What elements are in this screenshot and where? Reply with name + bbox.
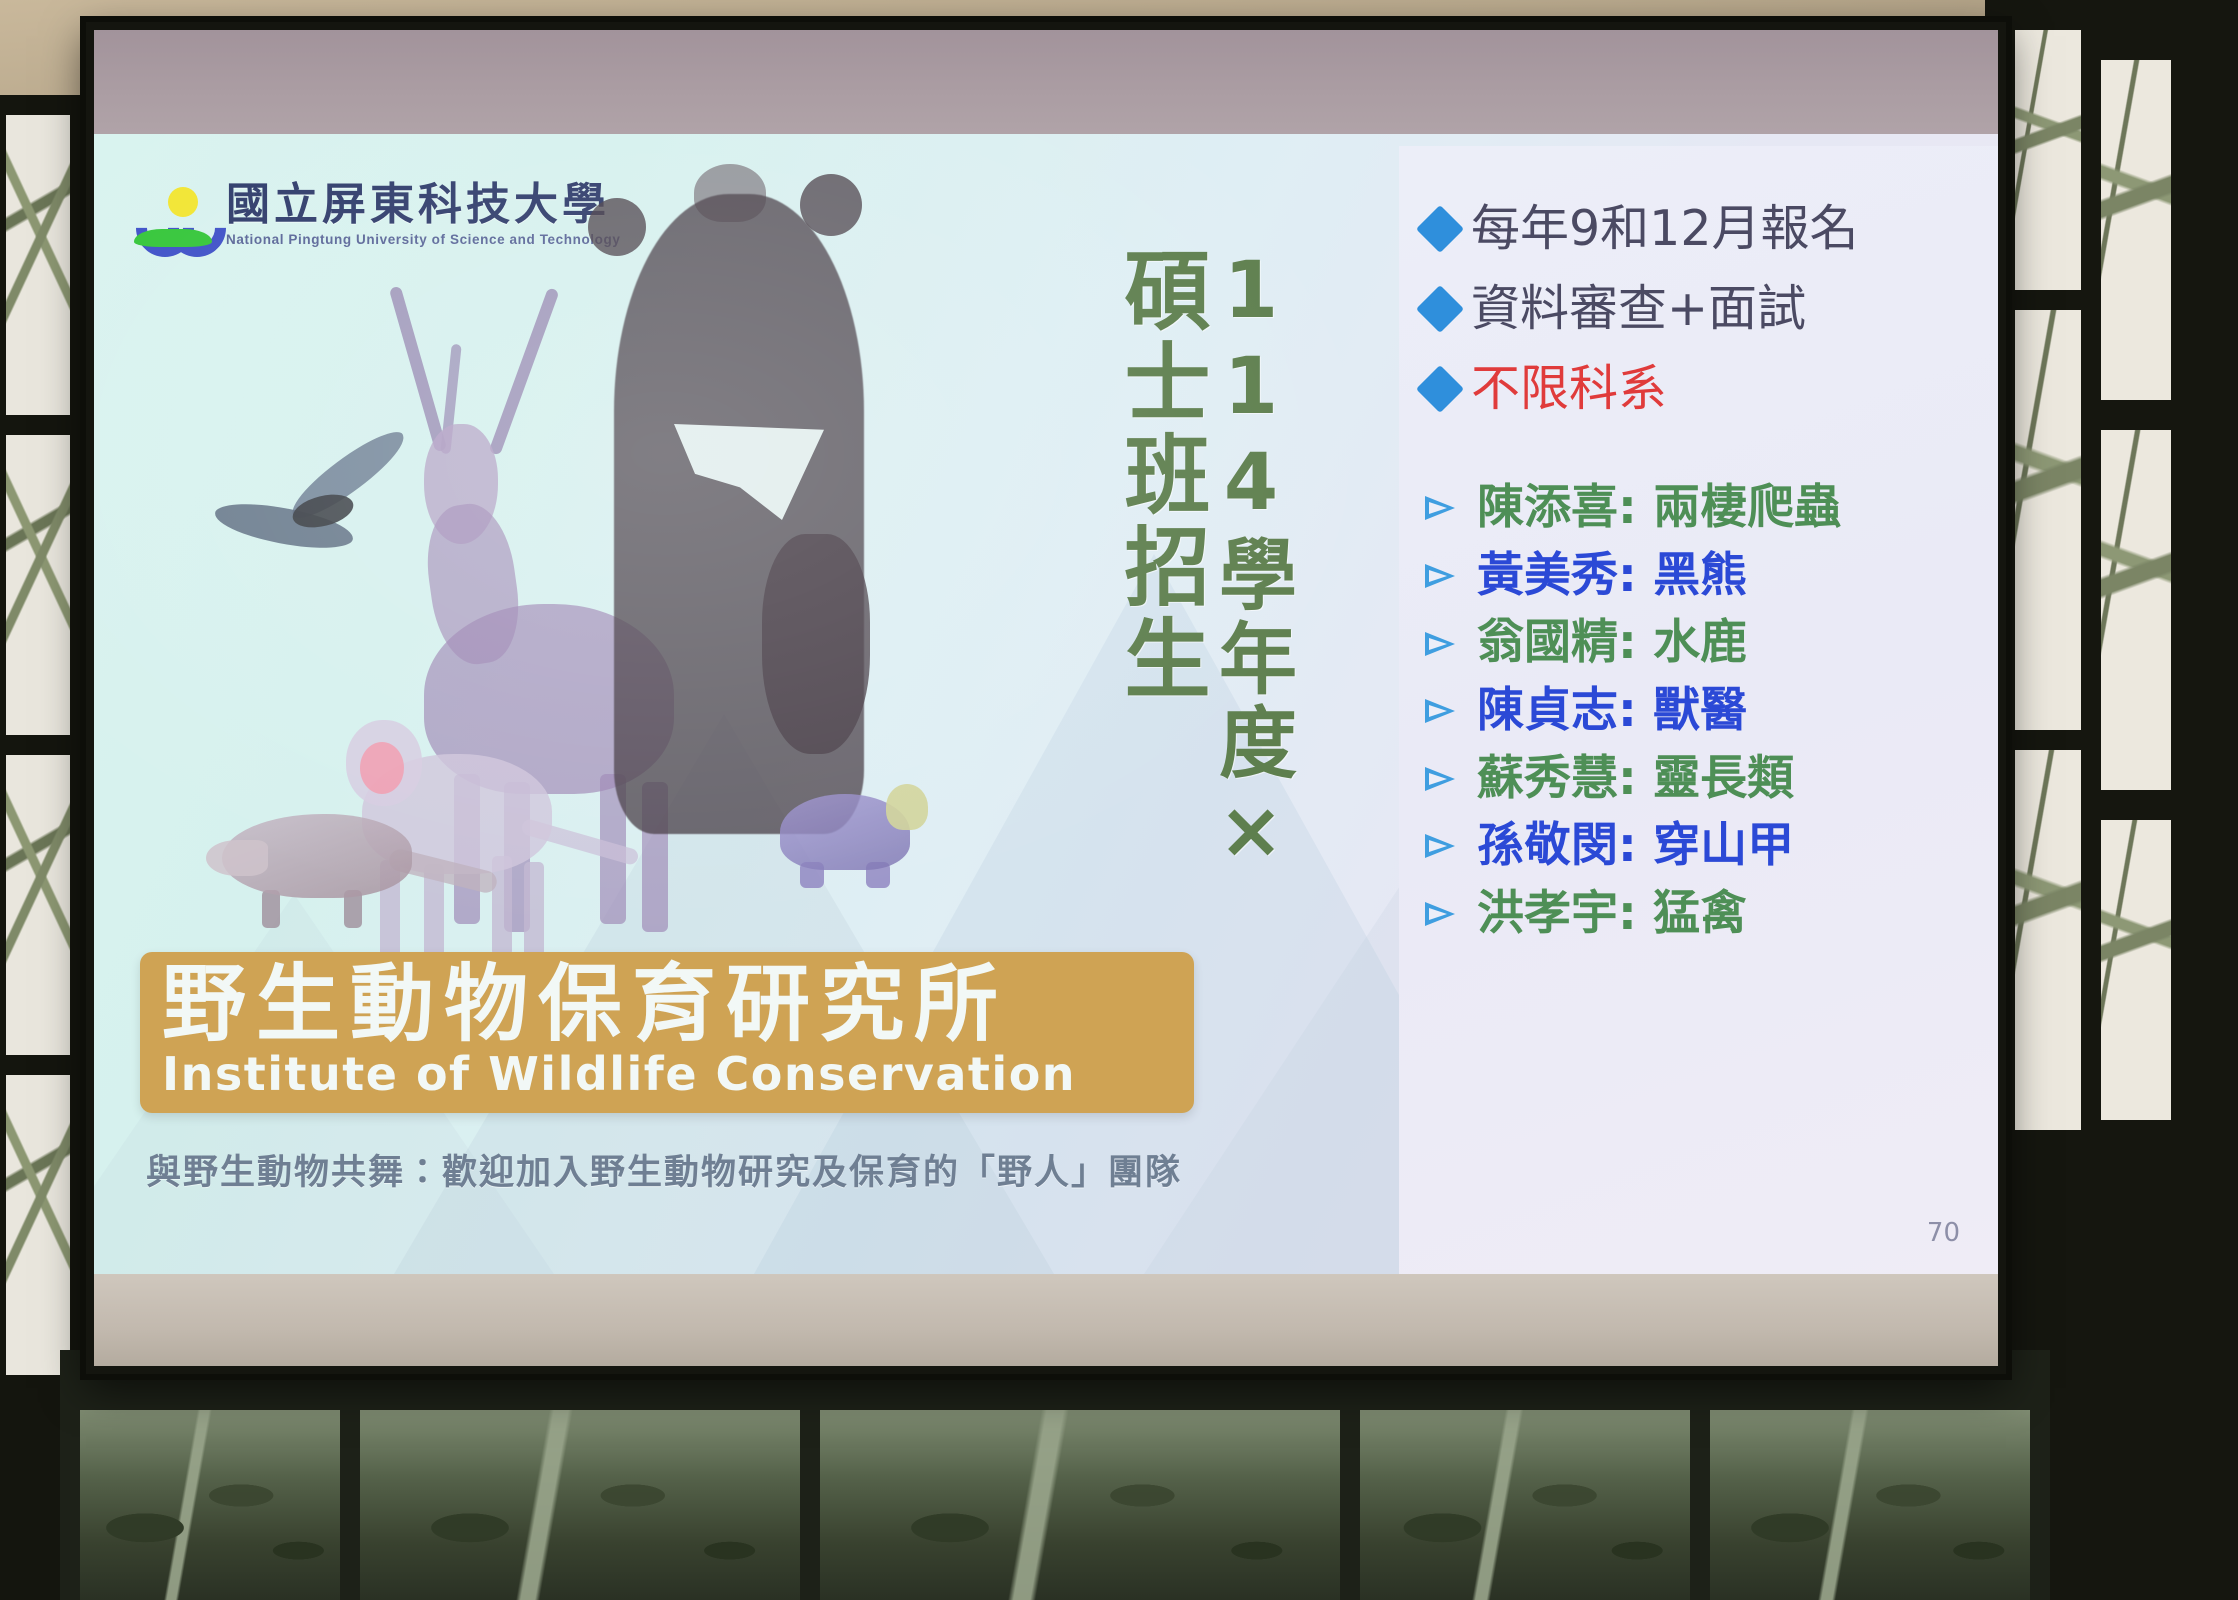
crested-serpent-eagle-illustration [220, 452, 420, 572]
window-pane [1710, 1410, 2030, 1600]
faculty-label: 孫敬閔: 穿山甲 [1477, 820, 1794, 873]
arrow-bullet-icon [1425, 696, 1465, 726]
bullet-label: 不限科系 [1471, 362, 1667, 416]
list-item: 不限科系 [1423, 362, 1983, 416]
list-item: 資料審查+面試 [1423, 282, 1983, 336]
slide-vertical-title: 114學年度× 碩士班招生 [1116, 246, 1290, 882]
diamond-bullet-icon [1416, 365, 1464, 413]
bullet-label: 資料審查+面試 [1471, 282, 1806, 336]
vertical-title-year-line: 114學年度× [1212, 246, 1290, 882]
slide-tagline: 與野生動物共舞：歡迎加入野生動物研究及保育的「野人」團隊 [146, 1144, 1182, 1195]
screen-top-band [94, 30, 1998, 134]
bullet-label: 每年9和12月報名 [1471, 202, 1859, 256]
window-pane [820, 1410, 1340, 1600]
info-panel: 每年9和12月報名 資料審查+面試 不限科系 [1399, 146, 1998, 1274]
list-item: 翁國精: 水鹿 [1425, 617, 1991, 670]
window-pane [80, 1410, 340, 1600]
window-pane [2015, 30, 2081, 290]
arrow-bullet-icon [1425, 831, 1465, 861]
window-pane [2015, 750, 2081, 1130]
screen-bottom-band [94, 1274, 1998, 1366]
window-pane [2101, 60, 2171, 400]
sambar-deer-illustration [389, 286, 447, 453]
faculty-label: 陳添喜: 兩棲爬蟲 [1477, 482, 1841, 535]
bottom-window-row [60, 1350, 2050, 1600]
list-item: 蘇秀慧: 靈長類 [1425, 753, 1991, 806]
list-item: 每年9和12月報名 [1423, 202, 1983, 256]
list-item: 陳添喜: 兩棲爬蟲 [1425, 482, 1991, 535]
diamond-bullet-icon [1416, 285, 1464, 333]
page-number: 70 [1927, 1218, 1960, 1248]
window-pane [360, 1410, 800, 1600]
faculty-label: 洪孝宇: 猛禽 [1477, 888, 1747, 941]
window-pane [1360, 1410, 1690, 1600]
arrow-bullet-icon [1425, 629, 1465, 659]
window-pane [6, 115, 70, 415]
window-pane [2101, 820, 2171, 1120]
projector-screen-surface: 國立屏東科技大學 National Pingtung University of… [94, 30, 1998, 1366]
window-pane [6, 435, 70, 735]
institute-name-en: Institute of Wildlife Conservation [162, 1050, 1172, 1100]
faculty-label: 陳貞志: 獸醫 [1477, 685, 1747, 738]
faculty-label: 翁國精: 水鹿 [1477, 617, 1747, 670]
window-pane [2101, 430, 2171, 790]
list-item: 孫敬閔: 穿山甲 [1425, 820, 1991, 873]
arrow-bullet-icon [1425, 493, 1465, 523]
list-item: 陳貞志: 獸醫 [1425, 685, 1991, 738]
institute-banner: 野生動物保育研究所 Institute of Wildlife Conserva… [140, 952, 1194, 1113]
list-item: 洪孝宇: 猛禽 [1425, 888, 1991, 941]
screenshot-root: 國立屏東科技大學 National Pingtung University of… [0, 0, 2238, 1600]
faculty-label: 蘇秀慧: 靈長類 [1477, 753, 1794, 806]
vertical-title-program-line: 碩士班招生 [1116, 246, 1202, 882]
window-pane [6, 1075, 70, 1375]
institute-name-cn: 野生動物保育研究所 [162, 962, 1172, 1048]
arrow-bullet-icon [1425, 561, 1465, 591]
faculty-label: 黃美秀: 黑熊 [1477, 550, 1747, 603]
formosan-black-bear-illustration [588, 198, 646, 256]
admission-bullet-list: 每年9和12月報名 資料審查+面試 不限科系 [1423, 202, 1983, 442]
faculty-list: 陳添喜: 兩棲爬蟲 黃美秀: 黑熊 翁國精: 水鹿 陳貞志: 獸醫 [1425, 482, 1991, 955]
arrow-bullet-icon [1425, 899, 1465, 929]
diamond-bullet-icon [1416, 205, 1464, 253]
window-pane [2015, 310, 2081, 730]
window-pane [6, 755, 70, 1055]
projector-screen-frame: 國立屏東科技大學 National Pingtung University of… [86, 22, 2006, 1374]
list-item: 黃美秀: 黑熊 [1425, 550, 1991, 603]
arrow-bullet-icon [1425, 764, 1465, 794]
presentation-slide: 國立屏東科技大學 National Pingtung University of… [94, 134, 1998, 1274]
